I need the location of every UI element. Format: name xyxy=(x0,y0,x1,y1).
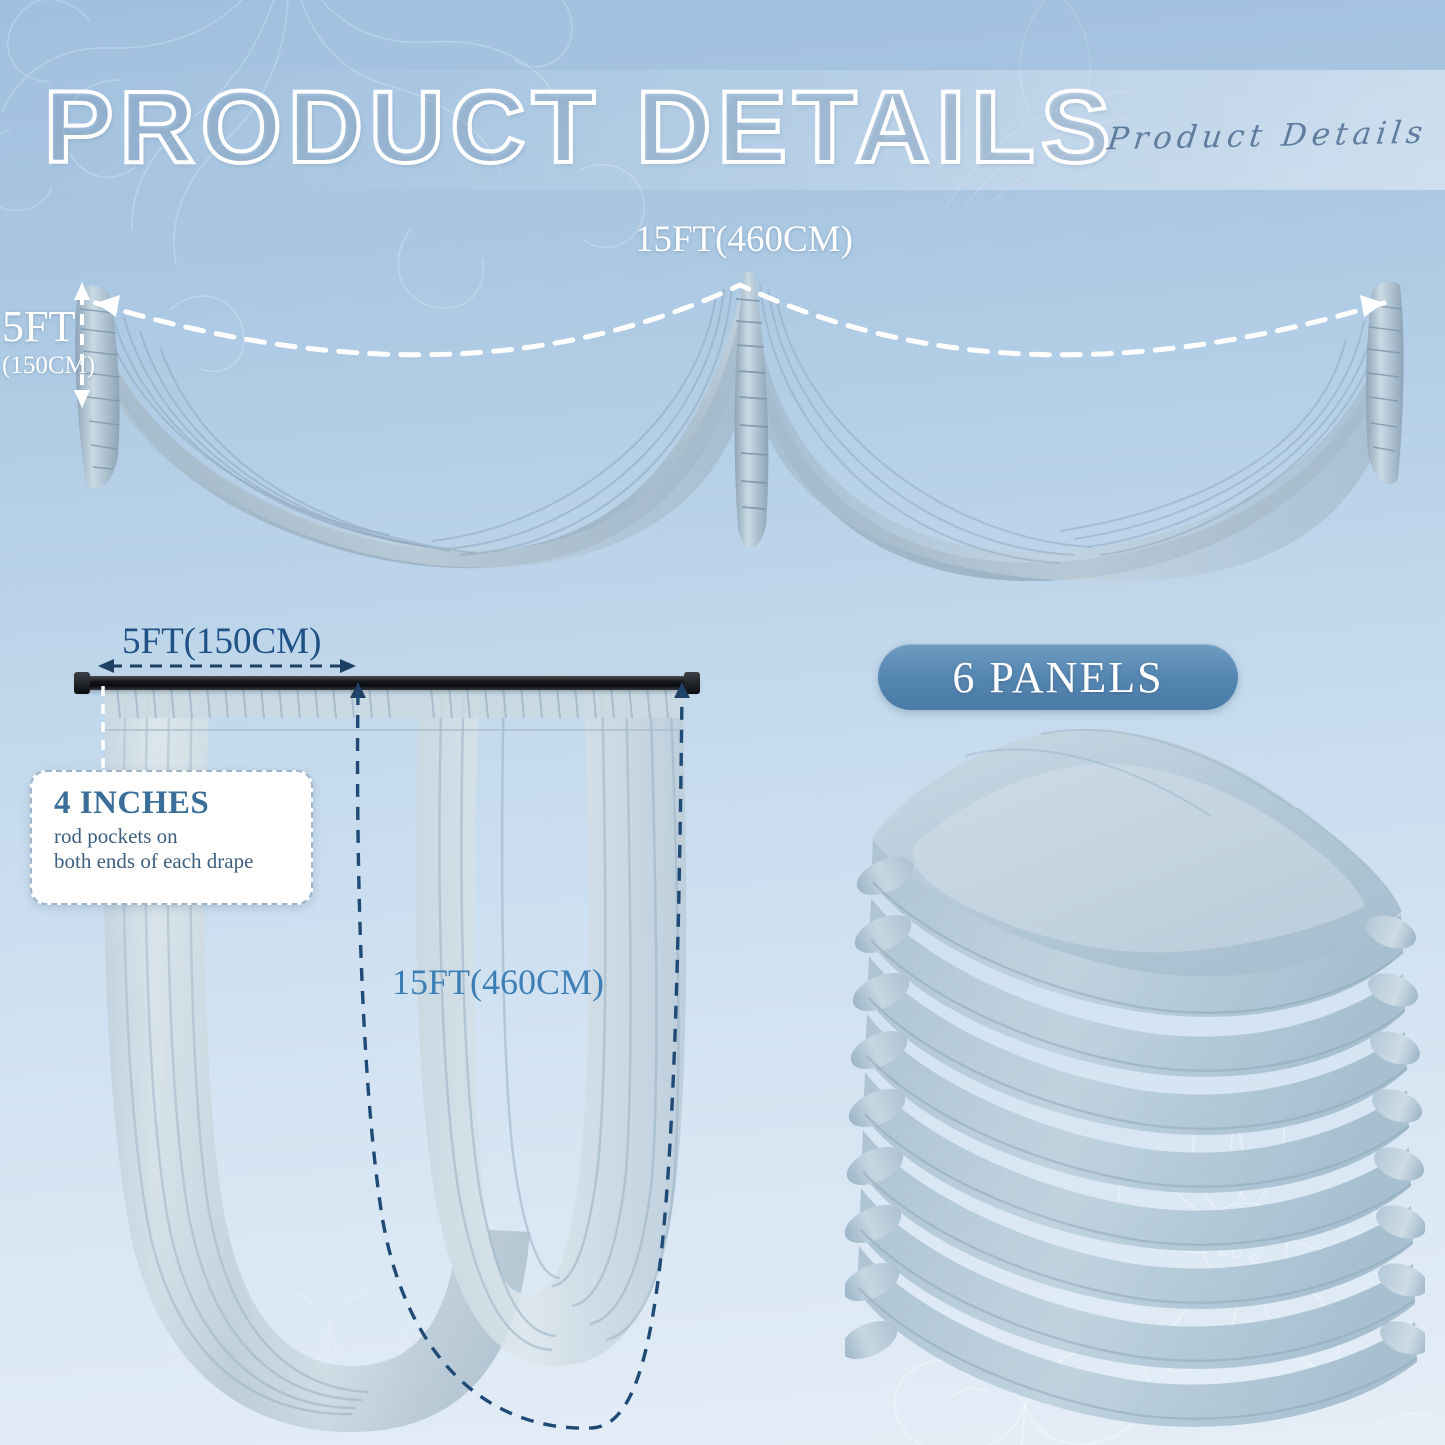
swag-drop-label-group: 5FT (150CM) xyxy=(2,305,95,381)
panels-count-label: 6 PANELS xyxy=(952,652,1163,703)
swag-width-label: 15FT(460CM) xyxy=(635,218,853,261)
panel-length-label: 15FT(460CM) xyxy=(392,961,604,1003)
dashed-length-path-icon xyxy=(330,676,710,1442)
callout-title: 4 INCHES xyxy=(54,785,295,821)
dashed-arc-double-arrow-icon xyxy=(60,245,1420,375)
folded-fabric-stack-icon xyxy=(845,716,1425,1445)
product-details-infographic: PRODUCT DETAILS Product Details xyxy=(0,0,1445,1445)
rod-cap-left-icon xyxy=(74,672,90,694)
swag-drop-label: 5FT xyxy=(2,302,75,351)
swag-drop-sub-label: (150CM) xyxy=(2,351,95,381)
callout-line-1: rod pockets on xyxy=(54,824,295,849)
callout-line-2: both ends of each drape xyxy=(54,849,295,874)
page-title: PRODUCT DETAILS xyxy=(44,74,1146,180)
panels-count-badge: 6 PANELS xyxy=(878,644,1238,710)
page-title-wrapper: PRODUCT DETAILS xyxy=(44,74,1124,184)
rod-pocket-callout-card: 4 INCHES rod pockets on both ends of eac… xyxy=(30,770,313,905)
page-title-script: Product Details xyxy=(1106,115,1430,158)
